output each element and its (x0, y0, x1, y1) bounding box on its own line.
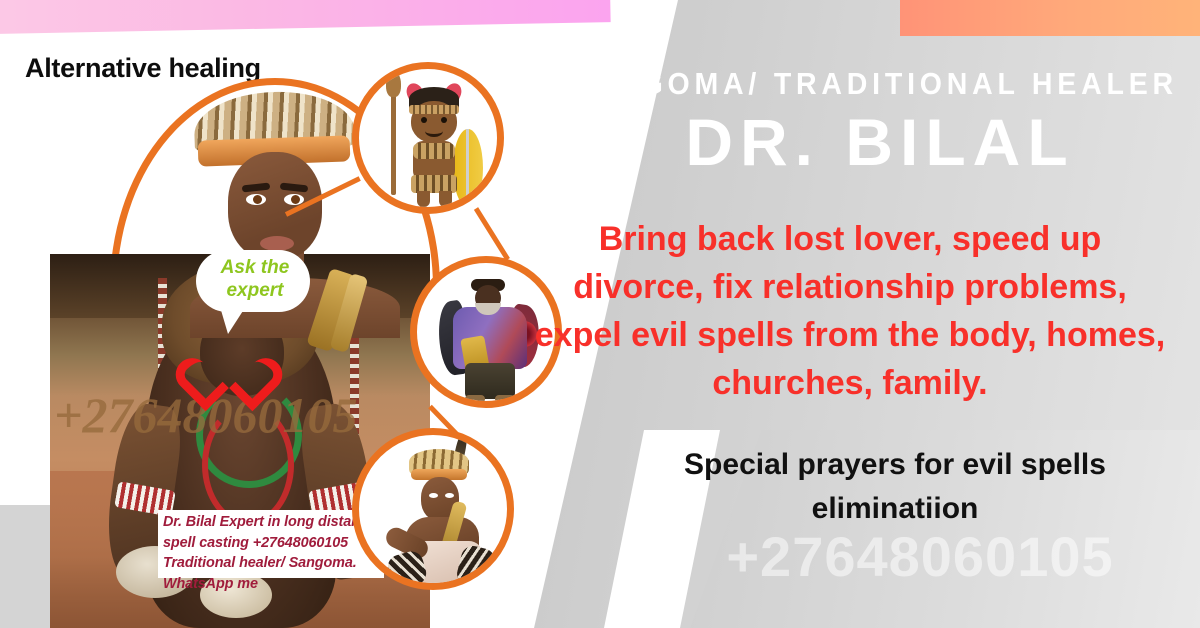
pink-top-bar (0, 0, 611, 34)
warrior-eye-left (421, 117, 427, 123)
illustration-mouth (260, 236, 294, 251)
circle-zulu-warrior (352, 62, 504, 214)
red-heart-icon (196, 336, 262, 396)
illustration-pupil-right (291, 195, 300, 204)
healer-shoe-left (465, 395, 485, 403)
warrior-smile (425, 125, 443, 137)
warrior-headband (409, 105, 459, 114)
alternative-healing-heading: Alternative healing (25, 53, 261, 84)
dancer-eye-left (429, 493, 438, 498)
warrior-shield-stick (466, 129, 469, 207)
illustration-pupil-left (253, 195, 262, 204)
circle-crouching-dancer (352, 428, 514, 590)
page-title: DR. BILAL (560, 104, 1200, 180)
dancer-eye-right (445, 493, 454, 498)
warrior-spear-head (386, 71, 401, 97)
special-prayers-subline: Special prayers for evil spells eliminat… (610, 443, 1180, 531)
warrior-fur-collar (413, 143, 455, 159)
orange-top-bar (900, 0, 1200, 36)
speech-bubble-text: Ask the expert (200, 256, 310, 302)
watermark-phone-number: +27648060105 (640, 524, 1200, 589)
warrior-leg-left (417, 191, 430, 207)
services-headline: Bring back lost lover, speed up divorce,… (530, 215, 1170, 407)
warrior-eye-right (441, 117, 447, 123)
poster-canvas: Alternative healing +27648060105 (0, 0, 1200, 628)
connector-line-2 (474, 207, 510, 261)
warrior-leg-right (439, 191, 452, 207)
eyebrow-title: SANGOMA/ TRADITIONAL HEALER (566, 66, 1136, 102)
healer-shoe-right (495, 395, 515, 403)
healer-trousers (465, 363, 515, 399)
